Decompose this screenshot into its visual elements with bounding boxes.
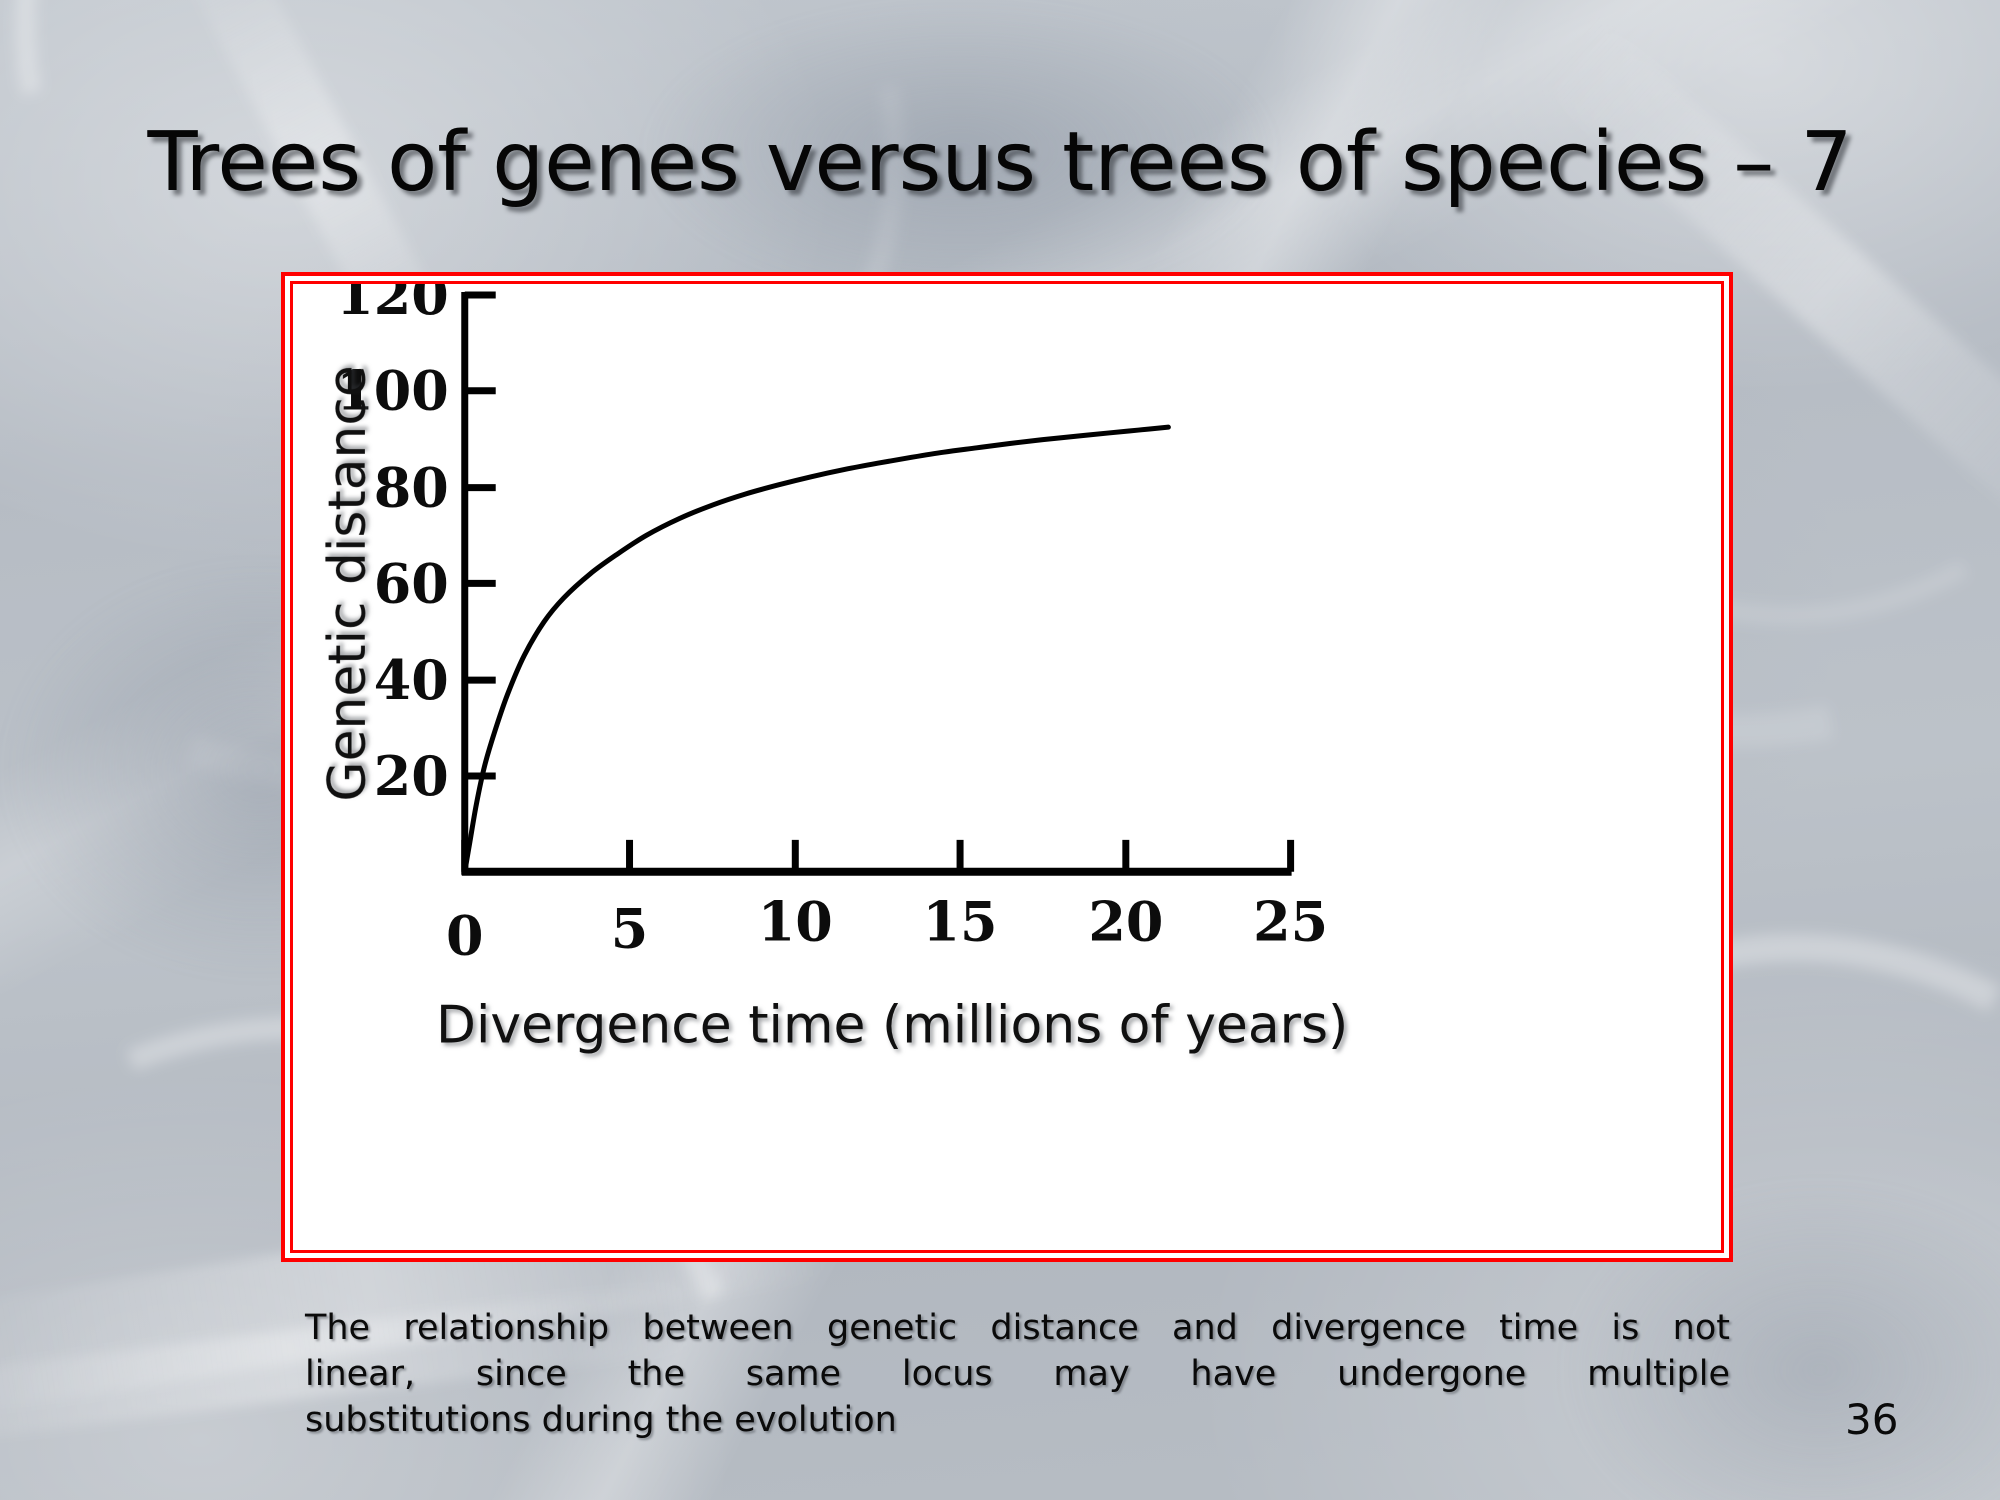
x-axis-title: Divergence time (millions of years) [436,995,1348,1055]
x-tick-label: 20 [1088,890,1163,954]
y-tick-label: 80 [374,456,449,520]
chart-plot-area: 120 100 80 60 40 20 [293,284,1721,1250]
x-tick-label: 10 [758,890,833,954]
x-tick-label: 0 [446,904,484,968]
slide-caption: The relationship between genetic distanc… [305,1305,1730,1444]
page-number: 36 [1845,1395,1898,1444]
x-tick-label: 5 [611,897,649,961]
caption-line: linear, since the same locus may have un… [305,1351,1730,1397]
page-title: Trees of genes versus trees of species –… [0,122,2000,204]
genetic-distance-chart: 120 100 80 60 40 20 [293,284,1721,1250]
y-tick-label: 20 [374,744,449,808]
figure-inner-border: 120 100 80 60 40 20 [290,281,1724,1253]
x-tick-label: 15 [923,890,998,954]
x-tick-label: 25 [1253,890,1328,954]
y-tick-label: 120 [336,284,449,327]
data-series-line [465,427,1169,872]
y-axis-title: Genetic distance [318,365,378,801]
y-axis-ticks [465,295,496,776]
caption-line: The relationship between genetic distanc… [305,1305,1730,1351]
x-axis-ticks [465,840,1291,872]
y-tick-label: 40 [374,648,449,712]
x-axis-tick-labels: 0 5 10 15 20 25 [446,890,1328,968]
figure-frame: 120 100 80 60 40 20 [281,272,1733,1262]
y-tick-label: 60 [374,551,449,615]
caption-line: substitutions during the evolution [305,1397,1730,1443]
